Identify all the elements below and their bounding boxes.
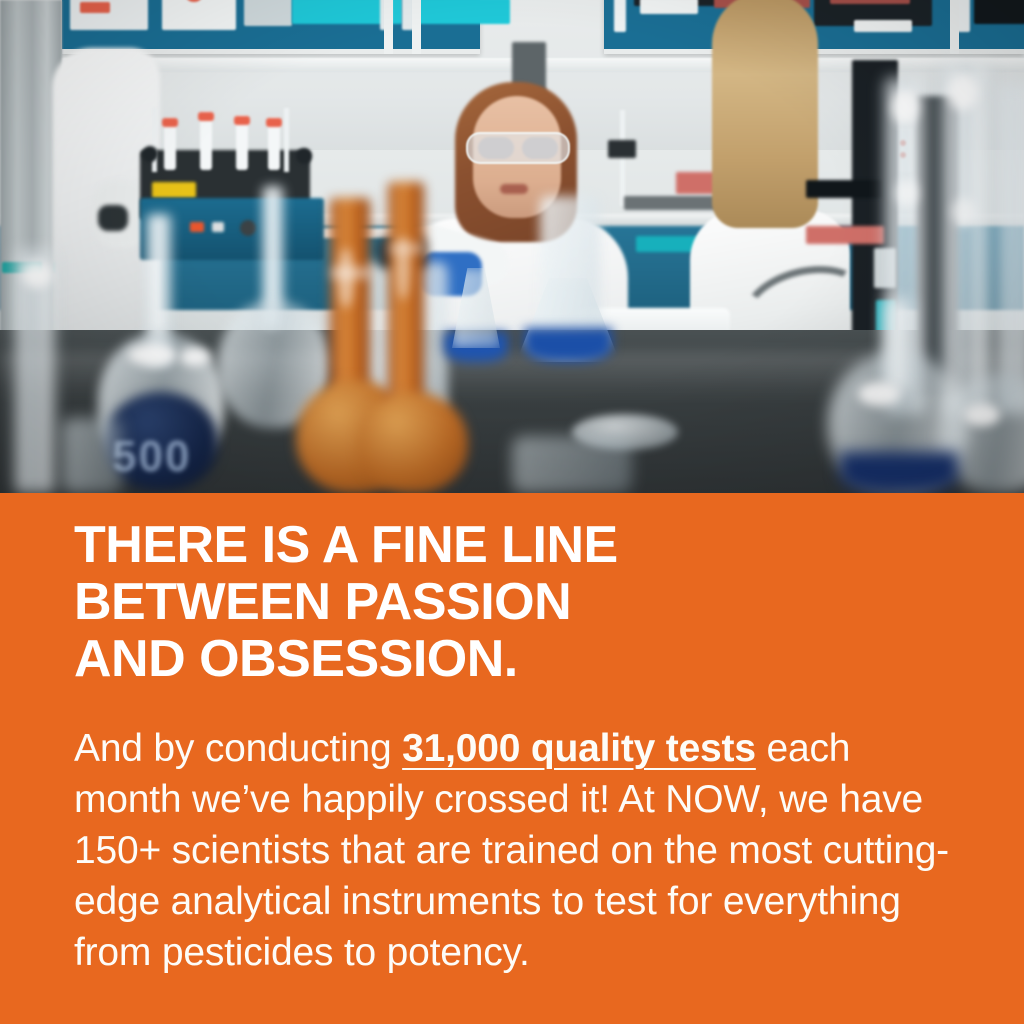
foreground-amber-bulb-2 [358,392,468,493]
scientist-left-hand [98,205,128,231]
scientist-center-mouth [500,184,528,194]
rack-yellow-label [152,182,196,198]
safety-goggles [466,132,570,164]
foreground-flask-right-neck [884,300,914,390]
foreground-amber-neck-2 [388,182,424,422]
overhead-cabinet-left [62,0,480,54]
foreground-column-right-3 [996,84,1024,414]
foreground-glass-bottom-left [62,418,122,493]
foreground-column-right-2 [940,64,994,416]
laboratory-photo: 500 [0,0,1024,493]
headline-line-1: THERE IS A FINE LINE [74,517,954,574]
promotional-graphic: 500 [0,0,1024,1024]
page-title: THERE IS A FINE LINE BETWEEN PASSION AND… [74,517,954,688]
flask-500-label: 500 [112,432,191,482]
foreground-glass-bottom-mid [512,436,632,493]
body-copy-before: And by conducting [74,727,402,770]
headline-line-3: AND OBSESSION. [74,631,954,688]
foreground-flask-right-liquid [840,452,958,493]
foreground-blue-solution [524,328,612,362]
quality-tests-emphasis: 31,000 quality tests [402,727,756,770]
scientist-right-hair [712,0,818,228]
text-panel: THERE IS A FINE LINE BETWEEN PASSION AND… [0,493,1024,1024]
body-copy: And by conducting 31,000 quality tests e… [74,723,950,978]
headline-line-2: BETWEEN PASSION [74,574,954,631]
